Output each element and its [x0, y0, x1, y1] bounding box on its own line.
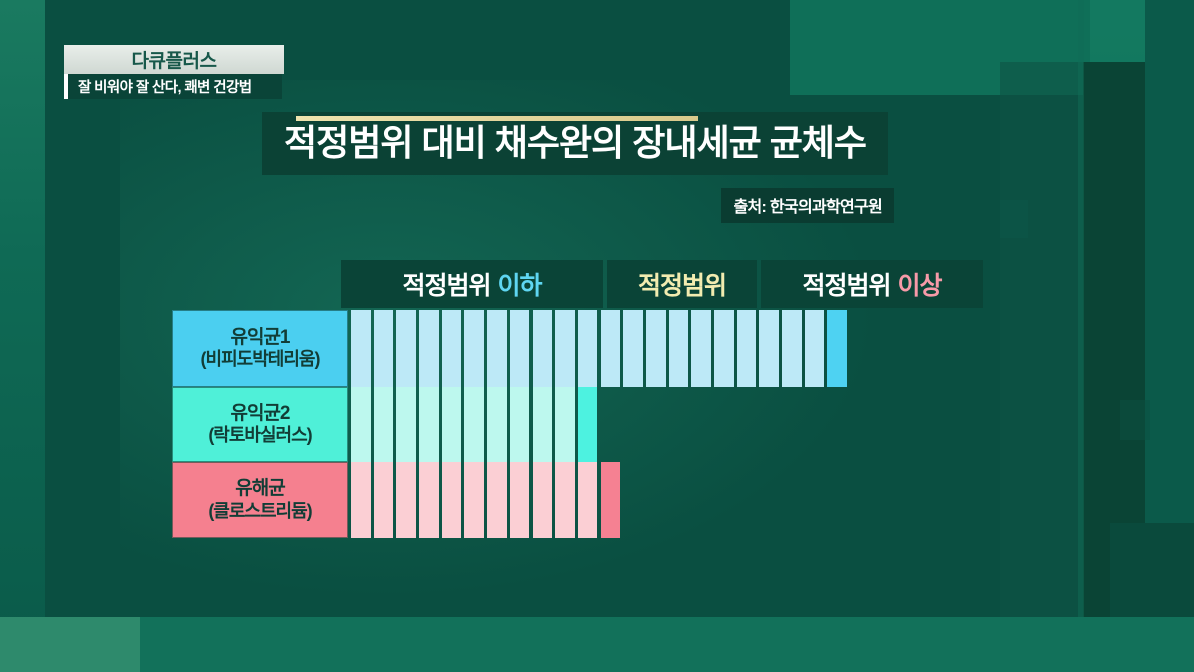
- chart-bar-segment: [714, 310, 734, 387]
- chart-bar-segment: [374, 387, 394, 462]
- chart-bar-segment: [464, 310, 484, 387]
- chart-bar-segment: [555, 387, 575, 462]
- chart-bar-segment: [759, 310, 779, 387]
- legend-within-label: 적정범위: [638, 266, 726, 302]
- chart-bar-segment: [464, 462, 484, 538]
- chart-bar-segment: [578, 387, 598, 462]
- chart-bar-segment: [442, 387, 462, 462]
- legend-item-above: 적정범위 이상: [761, 260, 983, 308]
- chart-bar-segment: [487, 462, 507, 538]
- chart-bar-segment: [533, 462, 553, 538]
- background-panel-right2: [1000, 62, 1085, 617]
- chart-bar-segment: [396, 310, 416, 387]
- chart-bar-segment: [442, 310, 462, 387]
- chart-bar-segment: [601, 310, 621, 387]
- chart-bar-segment: [578, 310, 598, 387]
- chart-row-label-line2: (비피도박테리움): [201, 349, 320, 370]
- title-gold-rule: [296, 116, 698, 121]
- chart-bar-segment: [646, 310, 666, 387]
- chart-bar-segment: [669, 310, 689, 387]
- chart-row-bar: [351, 310, 847, 387]
- background-bottom-block: [1110, 523, 1194, 617]
- page-title: 적정범위 대비 채수완의 장내세균 균체수: [284, 122, 866, 163]
- program-subtitle: 잘 비워야 잘 산다, 쾌변 건강법: [64, 74, 282, 99]
- background-square-1: [1000, 200, 1028, 238]
- legend: 적정범위 이하 적정범위 적정범위 이상: [341, 260, 983, 308]
- chart-bar-segment: [510, 310, 530, 387]
- background-stripe: [1078, 0, 1084, 617]
- legend-above-highlight: 이상: [898, 266, 942, 302]
- chart-bar-segment: [419, 462, 439, 538]
- chart-bar-segment: [487, 387, 507, 462]
- chart-bar-segment: [827, 310, 847, 387]
- chart-row-label-line2: (락토바실러스): [208, 425, 311, 446]
- chart-row-bar: [351, 387, 597, 462]
- legend-item-below: 적정범위 이하: [341, 260, 603, 308]
- chart-bar-segment: [578, 462, 598, 538]
- chart-bar-segment: [374, 310, 394, 387]
- chart-bar-segment: [805, 310, 825, 387]
- chart-row-label-line1: 유익균1: [230, 327, 289, 349]
- legend-below-prefix: 적정범위: [402, 266, 490, 302]
- chart-row-label: 유해균(클로스트리듐): [172, 462, 348, 538]
- chart-bar-segment: [510, 462, 530, 538]
- chart-row-label-line1: 유해균: [235, 478, 284, 500]
- title-block: 적정범위 대비 채수완의 장내세균 균체수 출처: 한국의과학연구원: [262, 112, 888, 175]
- chart-bar-segment: [351, 387, 371, 462]
- chart-bar-segment: [351, 462, 371, 538]
- chart-bar-segment: [374, 462, 394, 538]
- legend-item-within: 적정범위: [607, 260, 757, 308]
- chart-row-label: 유익균2(락토바실러스): [172, 387, 348, 462]
- chart-bar-segment: [464, 387, 484, 462]
- program-brand-tag: 다큐플러스 잘 비워야 잘 산다, 쾌변 건강법: [64, 45, 284, 99]
- chart-bar-segment: [533, 387, 553, 462]
- chart-bar-segment: [487, 310, 507, 387]
- chart-row-bar: [351, 462, 620, 538]
- chart-row: 유해균(클로스트리듐): [172, 462, 847, 538]
- chart-bar-segment: [351, 310, 371, 387]
- chart-bar-segment: [782, 310, 802, 387]
- bacteria-count-chart: 유익균1(비피도박테리움)유익균2(락토바실러스)유해균(클로스트리듐): [172, 310, 847, 538]
- chart-bar-segment: [510, 387, 530, 462]
- title-bar: 적정범위 대비 채수완의 장내세균 균체수: [262, 112, 888, 175]
- background-square-2: [1120, 400, 1150, 440]
- chart-bar-segment: [396, 387, 416, 462]
- chart-row: 유익균2(락토바실러스): [172, 387, 847, 462]
- source-label: 출처: 한국의과학연구원: [733, 193, 882, 217]
- program-name: 다큐플러스: [64, 45, 284, 74]
- chart-bar-segment: [737, 310, 757, 387]
- background-bottom-band2: [140, 617, 1194, 672]
- chart-bar-segment: [691, 310, 711, 387]
- chart-row-label-line1: 유익균2: [230, 403, 289, 425]
- chart-bar-segment: [419, 310, 439, 387]
- chart-bar-segment: [601, 462, 621, 538]
- chart-bar-segment: [442, 462, 462, 538]
- chart-bar-segment: [555, 310, 575, 387]
- chart-row: 유익균1(비피도박테리움): [172, 310, 847, 387]
- source-bar: 출처: 한국의과학연구원: [721, 188, 894, 223]
- legend-below-highlight: 이하: [498, 266, 542, 302]
- chart-bar-segment: [623, 310, 643, 387]
- chart-bar-segment: [419, 387, 439, 462]
- chart-row-label-line2: (클로스트리듐): [208, 501, 311, 522]
- chart-bar-segment: [555, 462, 575, 538]
- legend-above-prefix: 적정범위: [802, 266, 890, 302]
- chart-bar-segment: [533, 310, 553, 387]
- chart-bar-segment: [396, 462, 416, 538]
- chart-row-label: 유익균1(비피도박테리움): [172, 310, 348, 387]
